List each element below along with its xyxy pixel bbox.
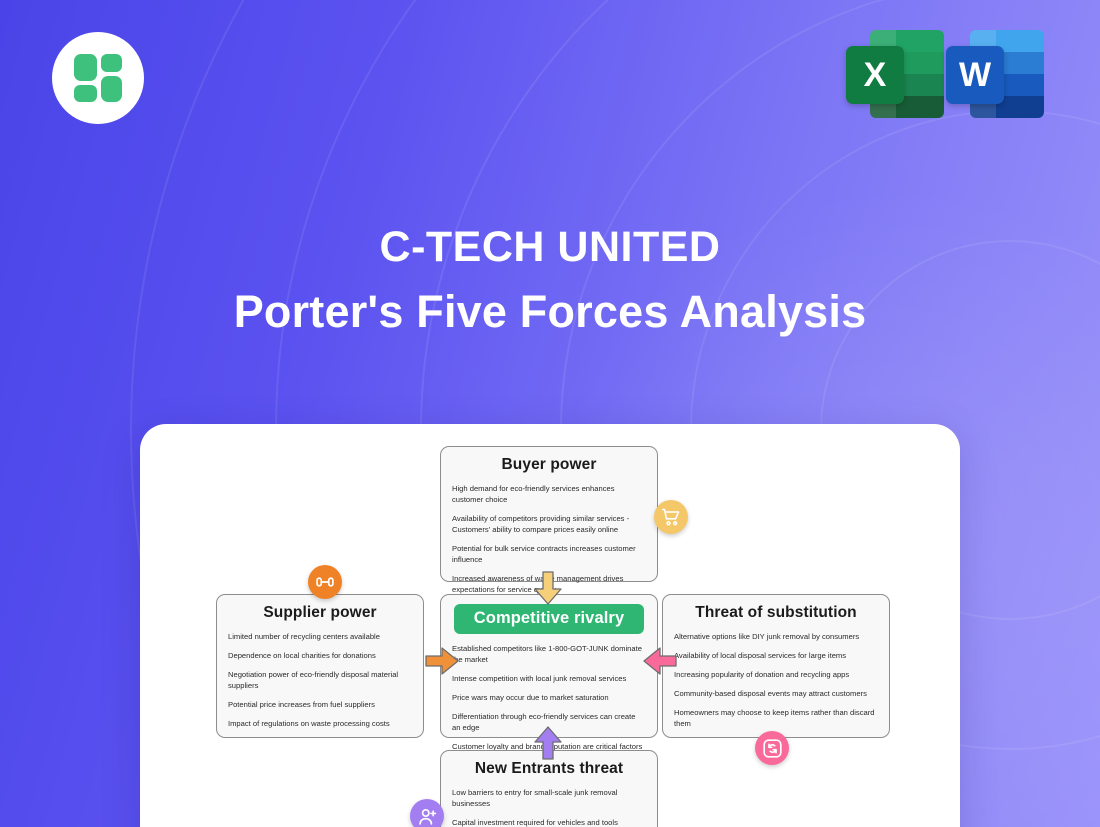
logo-tile-bottom-right <box>101 76 122 102</box>
list-item: Dependence on local charities for donati… <box>228 650 412 661</box>
card-threat-of-substitution[interactable]: Threat of substitution Alternative optio… <box>662 594 890 738</box>
logo-tile-bottom-left <box>74 85 97 102</box>
list-item: Alternative options like DIY junk remova… <box>674 631 878 642</box>
list-item: Negotiation power of eco-friendly dispos… <box>228 669 412 691</box>
card-new-entrants-threat-title: New Entrants threat <box>452 760 646 778</box>
logo-grid-shape <box>74 54 122 102</box>
barbell-icon[interactable] <box>308 565 342 599</box>
list-item: Established competitors like 1-800-GOT-J… <box>452 643 646 665</box>
list-item: Potential price increases from fuel supp… <box>228 699 412 710</box>
shopping-cart-icon[interactable] <box>654 500 688 534</box>
list-item: Price wars may occur due to market satur… <box>452 692 646 703</box>
card-competitive-rivalry-title: Competitive rivalry <box>454 604 644 634</box>
list-item: High demand for eco-friendly services en… <box>452 483 646 505</box>
list-item: Availability of local disposal services … <box>674 650 878 661</box>
diagram-canvas: Buyer power High demand for eco-friendly… <box>140 424 960 827</box>
arrow-right-icon <box>425 646 459 676</box>
logo-tile-top-right <box>101 54 122 72</box>
card-threat-of-substitution-list: Alternative options like DIY junk remova… <box>674 631 878 729</box>
list-item: Capital investment required for vehicles… <box>452 817 646 827</box>
title-block: C-TECH UNITED Porter's Five Forces Analy… <box>0 222 1100 339</box>
card-supplier-power-title: Supplier power <box>228 604 412 622</box>
excel-icon[interactable]: X <box>846 30 944 118</box>
card-supplier-power-list: Limited number of recycling centers avai… <box>228 631 412 729</box>
arrow-down-icon <box>533 571 563 605</box>
add-user-icon[interactable] <box>410 799 444 827</box>
company-title: C-TECH UNITED <box>0 222 1100 273</box>
card-buyer-power[interactable]: Buyer power High demand for eco-friendly… <box>440 446 658 582</box>
card-supplier-power[interactable]: Supplier power Limited number of recycli… <box>216 594 424 738</box>
list-item: Potential for bulk service contracts inc… <box>452 543 646 565</box>
card-threat-of-substitution-title: Threat of substitution <box>674 604 878 622</box>
list-item: Intense competition with local junk remo… <box>452 673 646 684</box>
arrow-up-icon <box>533 726 563 760</box>
list-item: Community-based disposal events may attr… <box>674 688 878 699</box>
refresh-cycle-icon[interactable] <box>755 731 789 765</box>
word-glyph: W <box>946 46 1004 104</box>
list-item: Impact of regulations on waste processin… <box>228 718 412 729</box>
excel-glyph: X <box>846 46 904 104</box>
card-buyer-power-title: Buyer power <box>452 456 646 474</box>
list-item: Homeowners may choose to keep items rath… <box>674 707 878 729</box>
poster-canvas: X W C-TECH UNITED Porter's Five Forces A… <box>0 0 1100 827</box>
card-competitive-rivalry[interactable]: Competitive rivalry Established competit… <box>440 594 658 738</box>
card-new-entrants-threat-list: Low barriers to entry for small-scale ju… <box>452 787 646 827</box>
list-item: Increasing popularity of donation and re… <box>674 669 878 680</box>
page-title: Porter's Five Forces Analysis <box>0 285 1100 339</box>
word-icon[interactable]: W <box>946 30 1044 118</box>
grid-logo-icon <box>52 32 144 124</box>
arrow-left-icon <box>643 646 677 676</box>
list-item: Low barriers to entry for small-scale ju… <box>452 787 646 809</box>
logo-tile-top-left <box>74 54 97 81</box>
list-item: Availability of competitors providing si… <box>452 513 646 535</box>
list-item: Limited number of recycling centers avai… <box>228 631 412 642</box>
card-new-entrants-threat[interactable]: New Entrants threat Low barriers to entr… <box>440 750 658 827</box>
